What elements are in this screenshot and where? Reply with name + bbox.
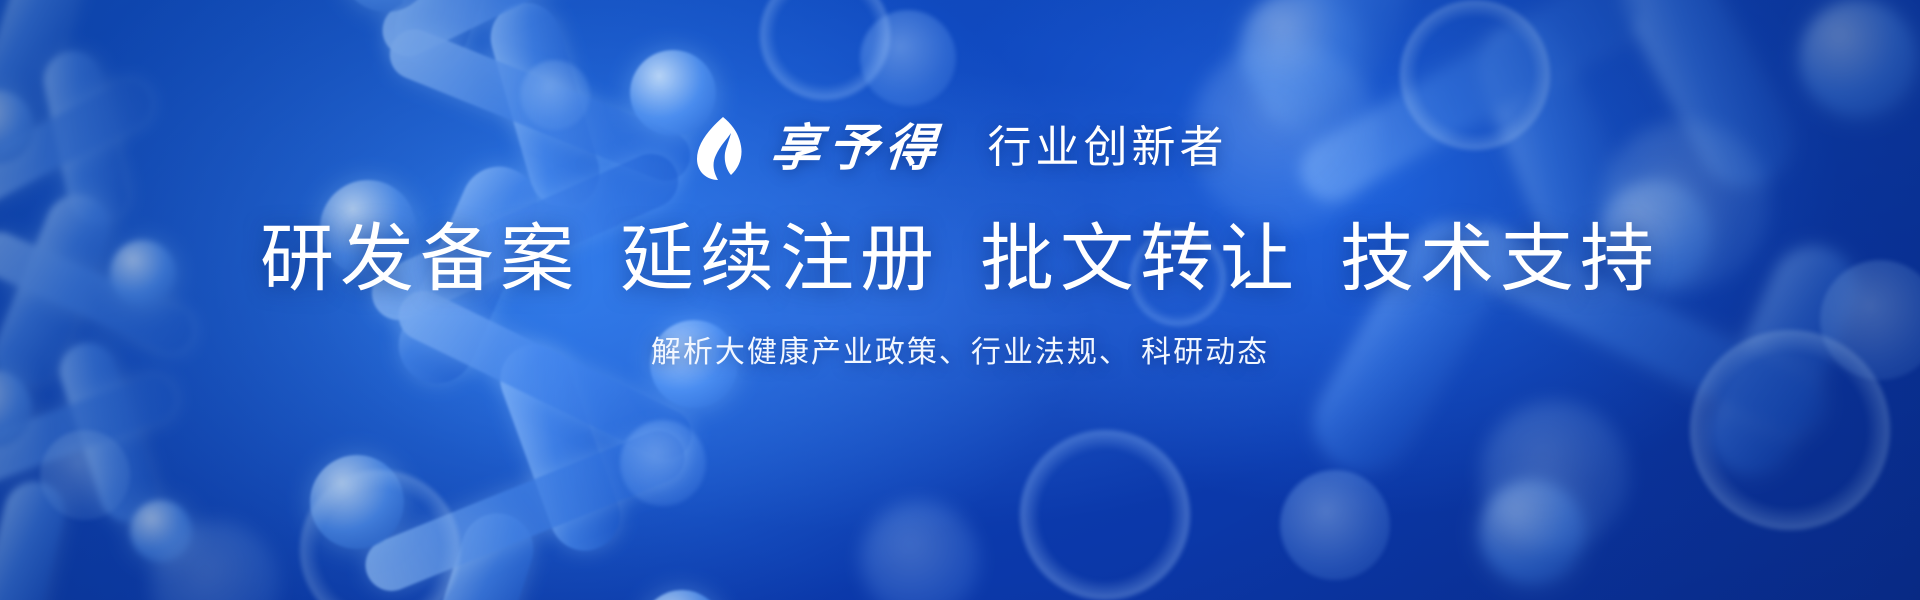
headline-keyword-4: 技术支持 (1340, 217, 1660, 300)
brand-slogan: 行业创新者 (988, 126, 1228, 170)
subtitle: 解析大健康产业政策、行业法规、 科研动态 (651, 335, 1269, 371)
headline-keyword-3: 批文转让 (980, 217, 1300, 300)
brand-lockup: 享予得 行业创新者 (693, 112, 1228, 184)
flame-droplet-logo-icon (693, 115, 745, 181)
headline-keyword-1: 研发备案 (260, 217, 580, 300)
brand-name: 享予得 (768, 123, 943, 173)
banner-content: 享予得 行业创新者 研发备案延续注册批文转让技术支持 解析大健康产业政策、行业法… (0, 0, 1920, 600)
headline: 研发备案延续注册批文转让技术支持 (260, 218, 1660, 301)
headline-keyword-2: 延续注册 (620, 217, 940, 300)
hero-banner: 享予得 行业创新者 研发备案延续注册批文转让技术支持 解析大健康产业政策、行业法… (0, 0, 1920, 600)
